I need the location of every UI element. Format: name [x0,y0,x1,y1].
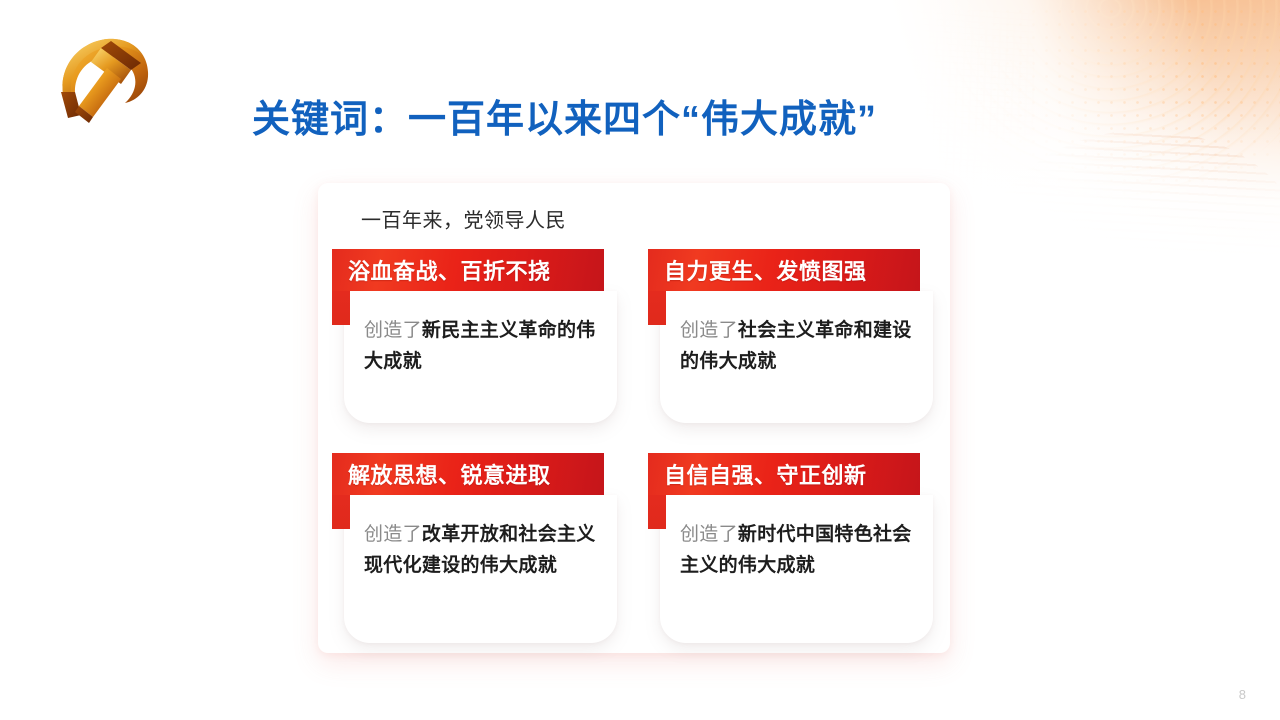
slide-canvas: 关键词：一百年以来四个“伟大成就” 一百年来，党领导人民 浴血奋战、百折不挠 创… [0,0,1280,720]
achievement-banner-4: 自信自强、守正创新 [648,453,920,495]
achievement-banner-3: 解放思想、锐意进取 [332,453,604,495]
banner-tail-1 [332,291,350,325]
hall-seating-arc [980,130,1280,260]
hall-ceiling-rings [900,0,1280,200]
board-header-text: 一百年来，党领导人民 [361,204,566,233]
achievement-text-2: 创造了社会主义革命和建设的伟大成就 [680,315,915,377]
achievement-lead-2: 创造了 [680,320,738,341]
achievement-card-3: 创造了改革开放和社会主义现代化建设的伟大成就 [344,495,617,643]
page-title: 关键词：一百年以来四个“伟大成就” [252,88,877,143]
cpc-emblem-icon [45,22,169,134]
page-number: 8 [1239,687,1246,702]
achievements-row-1: 浴血奋战、百折不挠 创造了新民主主义革命的伟大成就 自力更生、发愤图强 创造了社… [318,249,950,431]
achievement-item-3[interactable]: 解放思想、锐意进取 创造了改革开放和社会主义现代化建设的伟大成就 [318,453,634,643]
achievement-lead-4: 创造了 [680,524,738,545]
achievement-card-4: 创造了新时代中国特色社会主义的伟大成就 [660,495,933,643]
achievement-banner-label-4: 自信自强、守正创新 [664,458,867,490]
achievement-item-2[interactable]: 自力更生、发愤图强 创造了社会主义革命和建设的伟大成就 [634,249,950,431]
achievement-card-2: 创造了社会主义革命和建设的伟大成就 [660,291,933,423]
achievement-banner-1: 浴血奋战、百折不挠 [332,249,604,291]
achievement-card-1: 创造了新民主主义革命的伟大成就 [344,291,617,423]
achievement-lead-3: 创造了 [364,524,422,545]
achievement-text-1: 创造了新民主主义革命的伟大成就 [364,315,599,377]
banner-tail-2 [648,291,666,325]
hall-ceiling-lights [910,0,1280,220]
banner-tail-4 [648,495,666,529]
achievement-item-4[interactable]: 自信自强、守正创新 创造了新时代中国特色社会主义的伟大成就 [634,453,950,643]
achievements-grid: 浴血奋战、百折不挠 创造了新民主主义革命的伟大成就 自力更生、发愤图强 创造了社… [318,249,950,643]
achievements-row-2: 解放思想、锐意进取 创造了改革开放和社会主义现代化建设的伟大成就 自信自强、守正… [318,453,950,643]
achievement-lead-1: 创造了 [364,320,422,341]
achievement-banner-label-2: 自力更生、发愤图强 [664,254,867,286]
achievement-item-1[interactable]: 浴血奋战、百折不挠 创造了新民主主义革命的伟大成就 [318,249,634,431]
achievement-text-3: 创造了改革开放和社会主义现代化建设的伟大成就 [364,519,599,581]
achievement-banner-2: 自力更生、发愤图强 [648,249,920,291]
achievement-banner-label-3: 解放思想、锐意进取 [348,458,551,490]
achievement-banner-label-1: 浴血奋战、百折不挠 [348,254,551,286]
banner-tail-3 [332,495,350,529]
achievement-text-4: 创造了新时代中国特色社会主义的伟大成就 [680,519,915,581]
content-board: 一百年来，党领导人民 浴血奋战、百折不挠 创造了新民主主义革命的伟大成就 自力更… [318,183,950,653]
